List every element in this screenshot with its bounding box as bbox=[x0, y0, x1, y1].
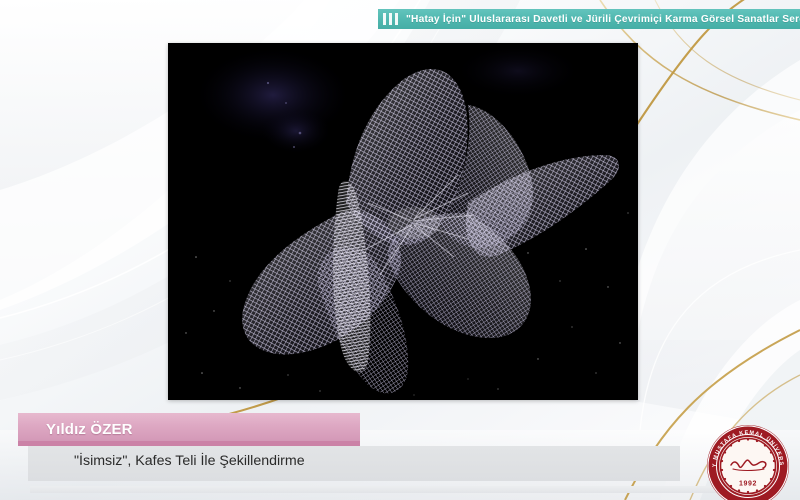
artist-name: Yıldız ÖZER bbox=[46, 421, 133, 438]
seal-year: 1992 bbox=[739, 481, 757, 488]
header-tick-marks-icon bbox=[383, 13, 398, 25]
artist-name-banner: Yıldız ÖZER bbox=[18, 413, 360, 446]
university-seal-logo: HATAY MUSTAFA KEMAL ÜNİVERSİTESİ 1992 bbox=[706, 424, 790, 500]
artwork-caption: "İsimsiz", Kafes Teli İle Şekillendirme bbox=[74, 453, 634, 469]
exhibition-header-bar: "Hatay İçin" Uluslararası Davetli ve Jür… bbox=[378, 9, 800, 29]
presentation-slide: "Hatay İçin" Uluslararası Davetli ve Jür… bbox=[0, 0, 800, 500]
exhibition-title: "Hatay İçin" Uluslararası Davetli ve Jür… bbox=[406, 14, 800, 25]
artwork-illustration bbox=[168, 43, 638, 400]
artwork-photo bbox=[168, 43, 638, 400]
footer-strip bbox=[30, 486, 770, 493]
